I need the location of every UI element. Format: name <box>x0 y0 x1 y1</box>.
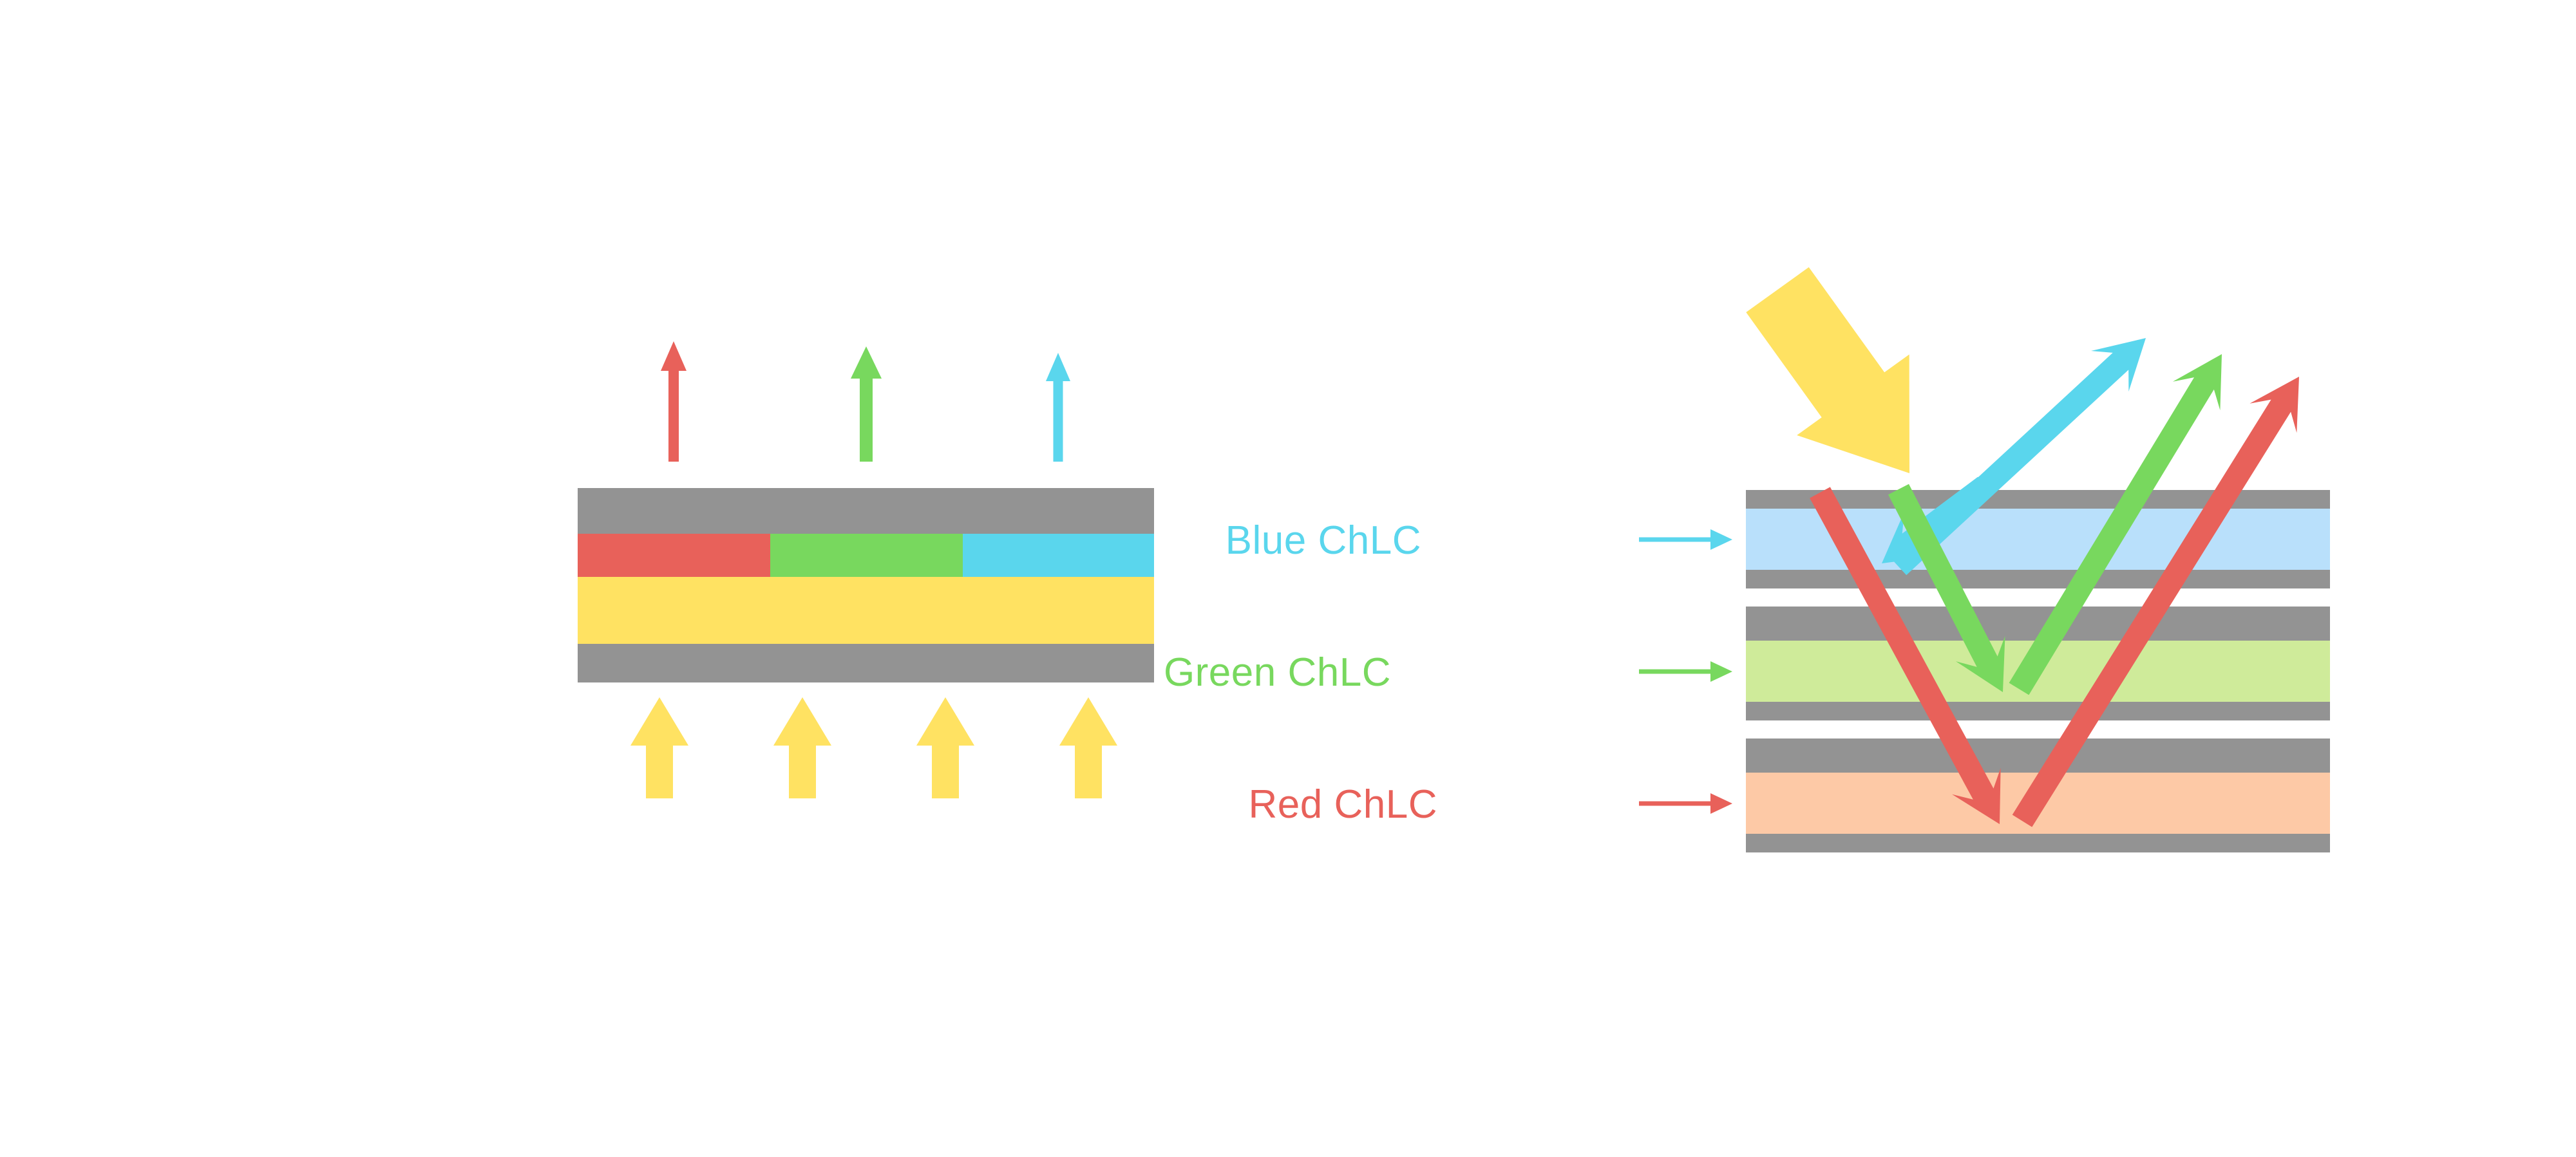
green-chlc-group-bottom-gray <box>1746 702 2330 720</box>
red-chlc-group-pointer-arrow-icon <box>1639 793 1732 814</box>
red-chlc-group-label: Red ChLC <box>1249 782 1437 827</box>
backlight-layer <box>578 577 1154 644</box>
top-electrode <box>578 488 1154 534</box>
emitted-blue-arrow <box>1046 353 1070 462</box>
blue-chlc-group-bottom-gray <box>1746 570 2330 588</box>
gray-bar-between-green-red <box>1746 738 2330 754</box>
blue-chlc-group-pointer-arrow-icon <box>1639 529 1732 550</box>
red-filter <box>578 534 770 577</box>
backlight-arrow-2 <box>773 697 831 798</box>
red-chlc-group-bottom-gray <box>1746 834 2330 852</box>
emitted-green-arrow <box>851 346 882 462</box>
green-chlc-group-label: Green ChLC <box>1164 650 1391 695</box>
backlight-arrow-3 <box>916 697 974 798</box>
chlc-display-diagram: Blue ChLCGreen ChLCRed ChLC <box>0 0 2576 1154</box>
blue-chlc-group-label: Blue ChLC <box>1226 518 1421 563</box>
bottom-electrode <box>578 644 1154 682</box>
diagram-canvas: Blue ChLCGreen ChLCRed ChLC <box>0 0 2576 1154</box>
blue-filter <box>963 534 1154 577</box>
red-chlc-group-top-gray <box>1746 754 2330 773</box>
backlight-arrow-4 <box>1059 697 1117 798</box>
green-chlc-group-pointer-arrow-icon <box>1639 661 1732 682</box>
gray-bar-between-blue-green <box>1746 607 2330 622</box>
emitted-red-arrow <box>661 341 687 462</box>
backlight-arrow-1 <box>630 697 688 798</box>
green-filter <box>770 534 963 577</box>
incident-white-light-arrow <box>1746 267 1909 473</box>
